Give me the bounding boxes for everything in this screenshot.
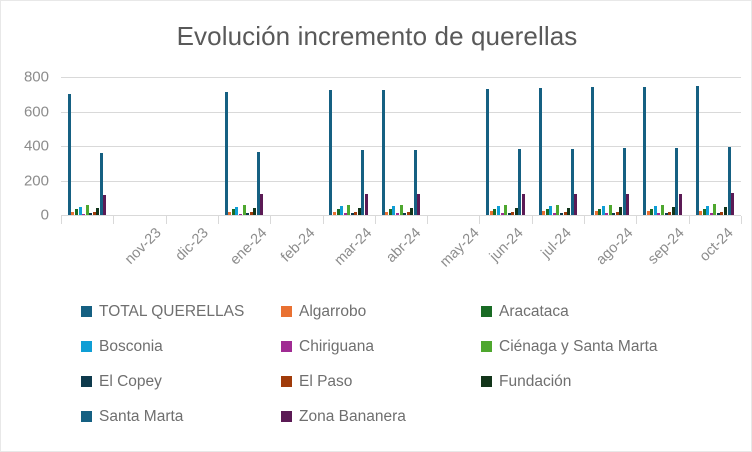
x-axis-label: feb-24 xyxy=(278,225,318,265)
bar-group xyxy=(696,77,735,215)
bar[interactable] xyxy=(623,148,626,215)
y-axis: 0200400600800 xyxy=(1,1,57,301)
x-axis-tick xyxy=(584,216,585,224)
legend-item[interactable]: Zona Bananera xyxy=(281,409,406,425)
bar[interactable] xyxy=(100,153,103,215)
x-axis-label: jul-24 xyxy=(538,225,574,261)
legend-swatch-icon xyxy=(481,306,492,317)
y-tick-label: 200 xyxy=(24,172,49,189)
legend-label: TOTAL QUERELLAS xyxy=(99,304,244,320)
legend-item[interactable]: Algarrobo xyxy=(281,304,366,320)
legend-item[interactable]: Chiriguana xyxy=(281,339,374,355)
y-tick-label: 600 xyxy=(24,103,49,120)
bar[interactable] xyxy=(86,205,89,215)
bar-group xyxy=(120,77,159,215)
legend-item[interactable]: El Copey xyxy=(81,374,162,390)
bar[interactable] xyxy=(361,150,364,215)
bar[interactable] xyxy=(96,208,99,215)
legend-swatch-icon xyxy=(81,376,92,387)
legend-label: Zona Bananera xyxy=(299,409,406,425)
legend-swatch-icon xyxy=(281,341,292,352)
x-axis-tick xyxy=(479,216,480,224)
legend-item[interactable]: TOTAL QUERELLAS xyxy=(81,304,244,320)
x-axis-label: mar-24 xyxy=(332,225,376,269)
legend-label: Algarrobo xyxy=(299,304,366,320)
legend-item[interactable]: Fundación xyxy=(481,374,571,390)
bar[interactable] xyxy=(329,90,332,215)
bar[interactable] xyxy=(103,195,106,215)
bar[interactable] xyxy=(713,204,716,215)
x-axis-label: sep-24 xyxy=(645,225,688,268)
bar-group xyxy=(277,77,316,215)
bar[interactable] xyxy=(260,194,263,215)
legend-label: Chiriguana xyxy=(299,339,374,355)
x-axis-label: dic-23 xyxy=(173,225,212,264)
bar[interactable] xyxy=(706,206,709,215)
x-axis-label: nov-23 xyxy=(122,225,165,268)
bar[interactable] xyxy=(235,207,238,215)
x-axis-tick xyxy=(270,216,271,224)
plot-area xyxy=(61,77,741,215)
bar[interactable] xyxy=(358,208,361,215)
bar[interactable] xyxy=(619,207,622,215)
x-axis-label: abr-24 xyxy=(383,225,424,266)
bar[interactable] xyxy=(225,92,228,215)
bar[interactable] xyxy=(522,194,525,215)
legend-item[interactable]: Bosconia xyxy=(81,339,163,355)
bar[interactable] xyxy=(696,86,699,215)
legend-swatch-icon xyxy=(281,411,292,422)
bar-group xyxy=(173,77,212,215)
bar[interactable] xyxy=(382,90,385,215)
bar[interactable] xyxy=(365,194,368,215)
legend-item[interactable]: El Paso xyxy=(281,374,352,390)
bar[interactable] xyxy=(567,208,570,215)
x-axis-tick xyxy=(218,216,219,224)
bar-group xyxy=(591,77,630,215)
bar[interactable] xyxy=(626,194,629,215)
bar[interactable] xyxy=(654,206,657,215)
x-axis-tick xyxy=(427,216,428,224)
bar[interactable] xyxy=(539,88,542,215)
bar-group xyxy=(486,77,525,215)
bar[interactable] xyxy=(257,152,260,215)
x-axis-tick xyxy=(375,216,376,224)
bar[interactable] xyxy=(574,194,577,215)
legend-item[interactable]: Santa Marta xyxy=(81,409,183,425)
bar[interactable] xyxy=(728,147,731,215)
bar-group xyxy=(225,77,264,215)
x-axis-tick xyxy=(61,216,62,224)
x-axis-tick xyxy=(636,216,637,224)
legend-swatch-icon xyxy=(481,341,492,352)
bar[interactable] xyxy=(672,207,675,215)
x-axis-label: oct-24 xyxy=(696,225,736,265)
x-axis-label: ene-24 xyxy=(227,225,270,268)
x-axis-tick xyxy=(166,216,167,224)
x-axis-tick xyxy=(323,216,324,224)
legend-swatch-icon xyxy=(281,376,292,387)
bar[interactable] xyxy=(609,205,612,215)
bar[interactable] xyxy=(602,206,605,215)
x-axis-label: jun-24 xyxy=(487,225,527,265)
chart-legend: TOTAL QUERELLASAlgarroboAracatacaBosconi… xyxy=(81,304,741,444)
bar[interactable] xyxy=(724,207,727,215)
x-axis-labels: nov-23dic-23ene-24feb-24mar-24abr-24may-… xyxy=(61,225,741,295)
legend-swatch-icon xyxy=(81,411,92,422)
bar[interactable] xyxy=(497,206,500,215)
legend-swatch-icon xyxy=(481,376,492,387)
legend-item[interactable]: Ciénaga y Santa Marta xyxy=(481,339,658,355)
bar[interactable] xyxy=(518,149,521,215)
bar[interactable] xyxy=(400,205,403,215)
bar[interactable] xyxy=(643,87,646,216)
bar-group xyxy=(382,77,421,215)
legend-swatch-icon xyxy=(81,306,92,317)
legend-label: Santa Marta xyxy=(99,409,183,425)
x-axis-tick xyxy=(741,216,742,224)
x-axis-ticks xyxy=(61,216,741,224)
bar[interactable] xyxy=(79,207,82,215)
legend-swatch-icon xyxy=(281,306,292,317)
chart-card: Evolución incremento de querellas 020040… xyxy=(0,0,752,452)
bar-group xyxy=(329,77,368,215)
bar[interactable] xyxy=(347,205,350,215)
bar[interactable] xyxy=(340,206,343,215)
bar[interactable] xyxy=(556,205,559,215)
x-axis-label: may-24 xyxy=(437,225,483,271)
bar-group xyxy=(68,77,107,215)
legend-label: Fundación xyxy=(499,374,571,390)
bar[interactable] xyxy=(549,206,552,215)
y-tick-label: 400 xyxy=(24,138,49,155)
bar[interactable] xyxy=(504,205,507,215)
bar[interactable] xyxy=(68,94,71,215)
legend-label: Bosconia xyxy=(99,339,163,355)
y-tick-label: 800 xyxy=(24,69,49,86)
bar[interactable] xyxy=(392,206,395,215)
legend-swatch-icon xyxy=(81,341,92,352)
bar[interactable] xyxy=(417,194,420,215)
bar-group xyxy=(434,77,473,215)
x-axis-tick xyxy=(532,216,533,224)
bar[interactable] xyxy=(591,87,594,215)
bar[interactable] xyxy=(253,208,256,215)
legend-label: El Paso xyxy=(299,374,352,390)
bar[interactable] xyxy=(414,150,417,215)
bar[interactable] xyxy=(243,205,246,215)
bar[interactable] xyxy=(410,208,413,215)
legend-label: Ciénaga y Santa Marta xyxy=(499,339,658,355)
plot-wrapper: 0200400600800 nov-23dic-23ene-24feb-24ma… xyxy=(1,1,752,301)
bar[interactable] xyxy=(679,194,682,215)
x-axis-tick xyxy=(113,216,114,224)
legend-label: El Copey xyxy=(99,374,162,390)
bar[interactable] xyxy=(731,193,734,215)
bar-group xyxy=(539,77,578,215)
x-axis-tick xyxy=(689,216,690,224)
bar[interactable] xyxy=(486,89,489,215)
bar[interactable] xyxy=(571,149,574,215)
bar[interactable] xyxy=(515,208,518,215)
bar-group xyxy=(643,77,682,215)
bar[interactable] xyxy=(661,205,664,215)
legend-item[interactable]: Aracataca xyxy=(481,304,569,320)
y-tick-label: 0 xyxy=(41,207,49,224)
bar[interactable] xyxy=(675,148,678,215)
x-axis-label: ago-24 xyxy=(593,225,636,268)
legend-label: Aracataca xyxy=(499,304,569,320)
